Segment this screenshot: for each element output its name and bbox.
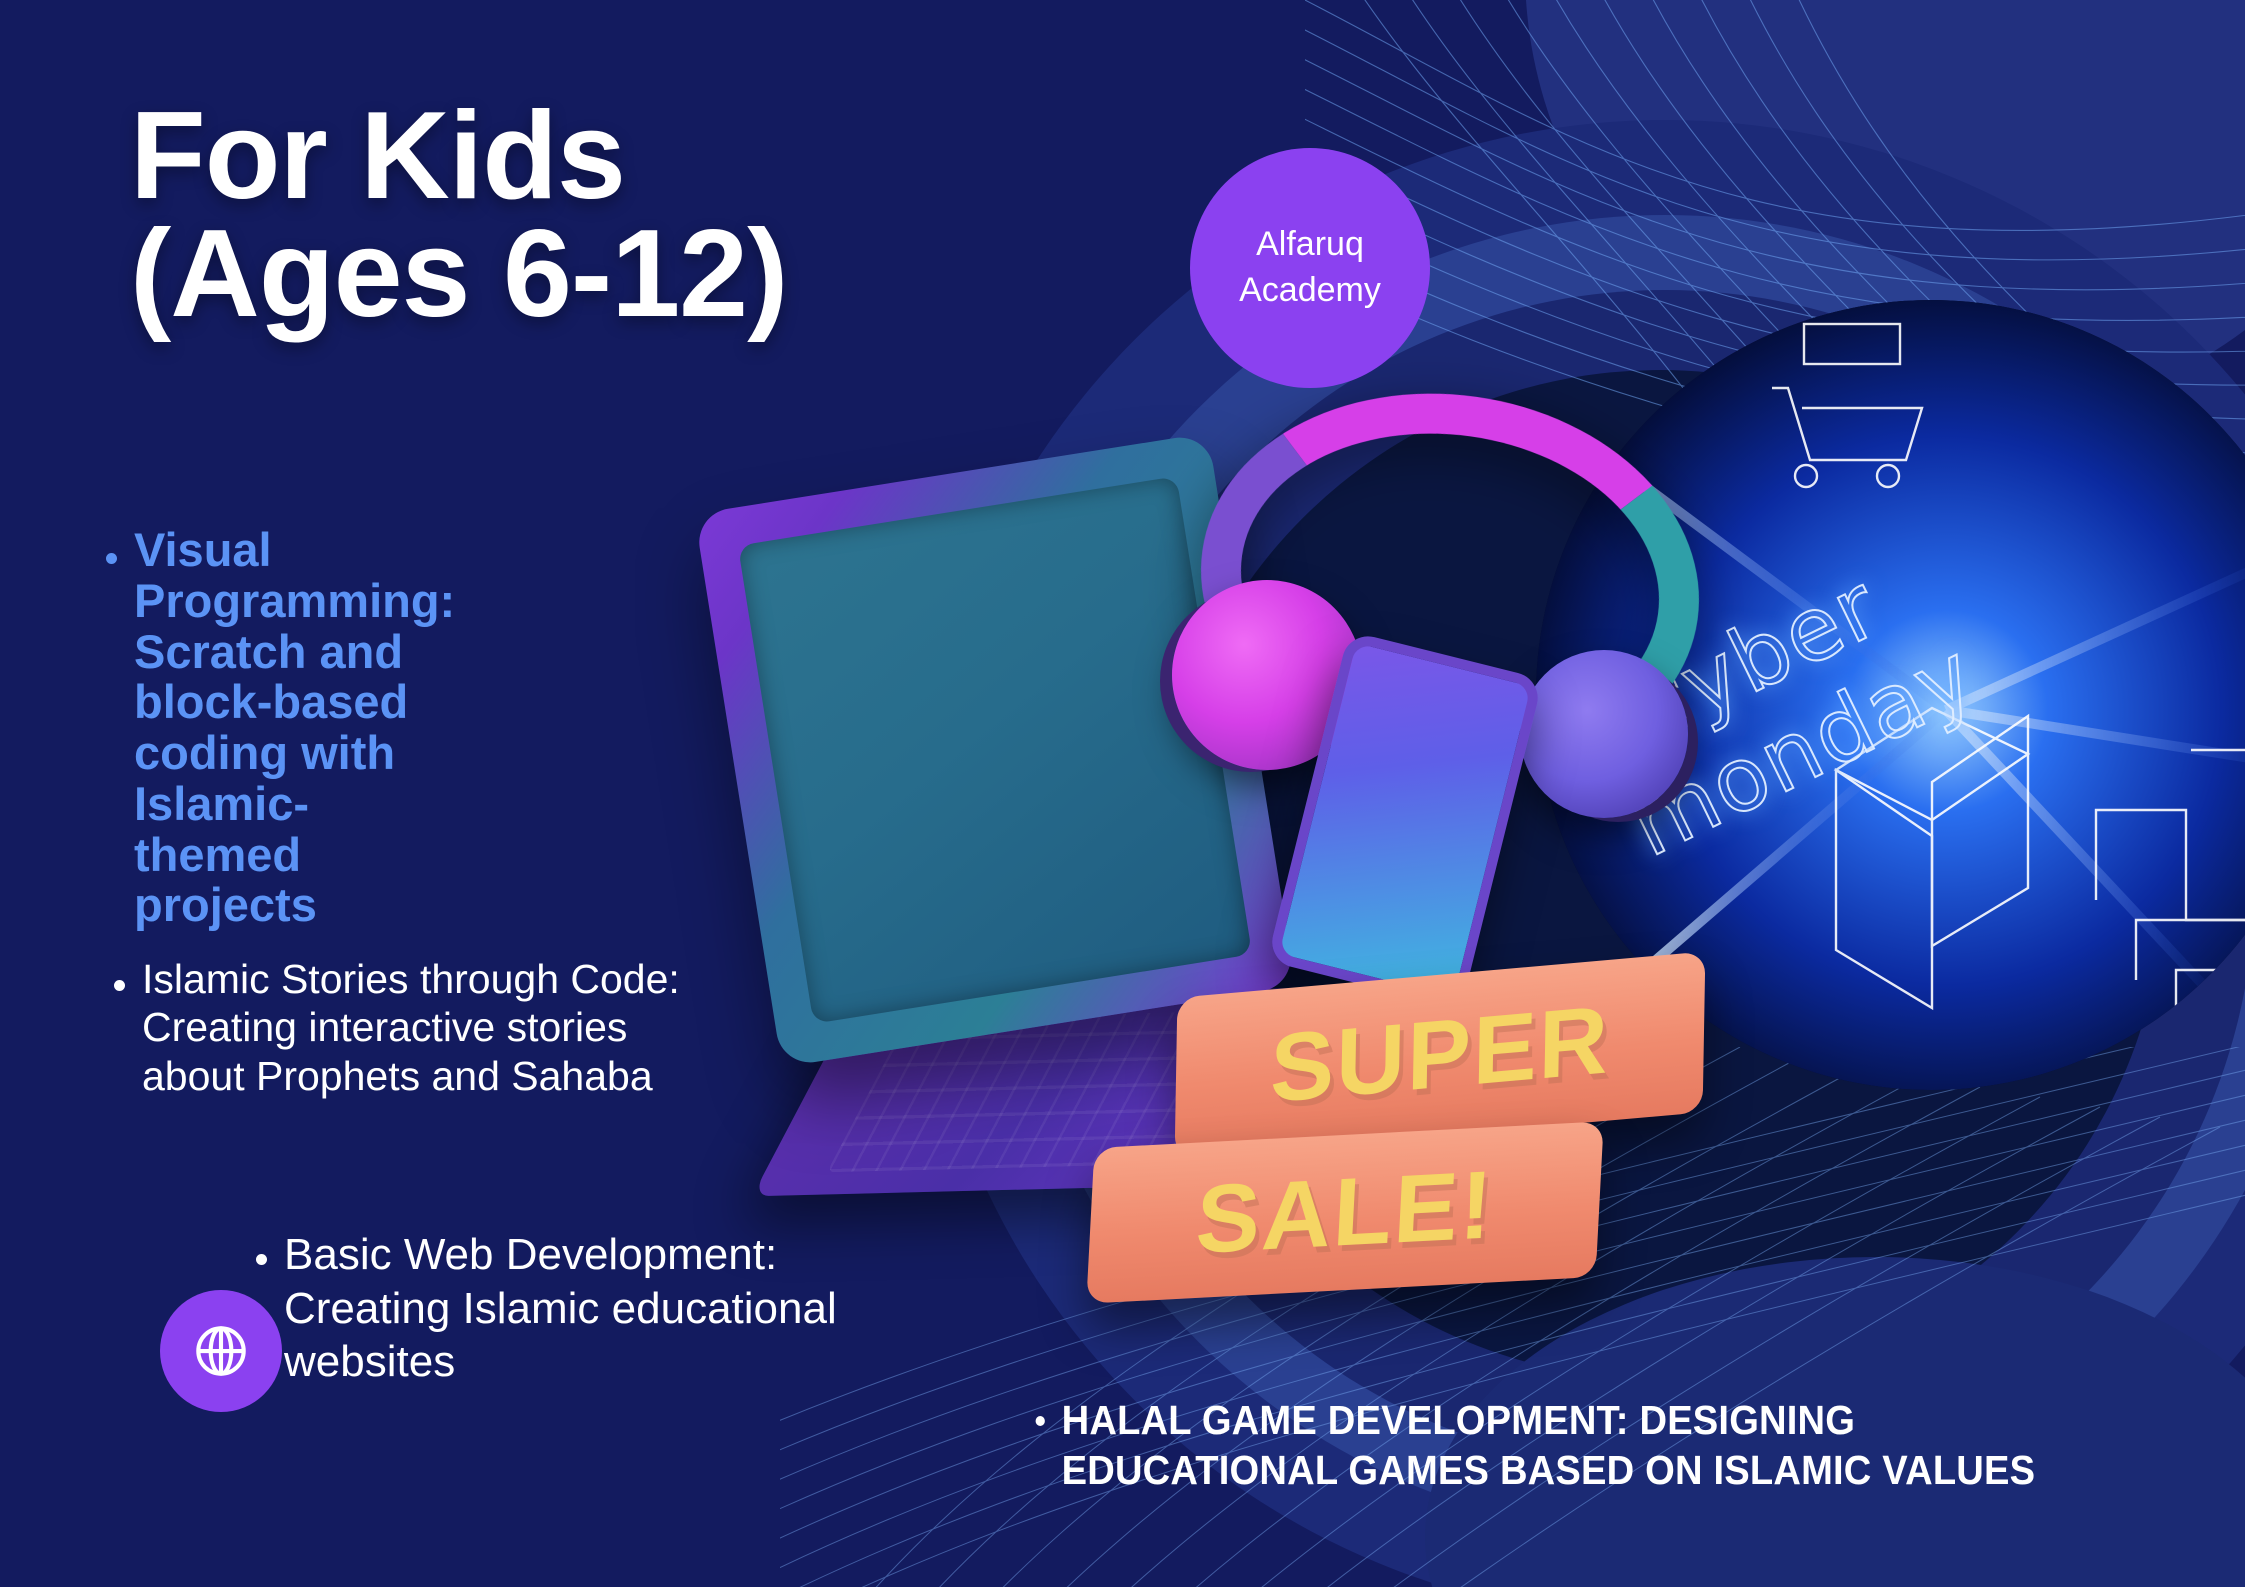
super-sale-banner-bottom: SALE! <box>1086 1121 1603 1303</box>
page-title-line-1: For Kids <box>130 98 850 216</box>
bullet-item-halal-game-development: HALAL GAME DEVELOPMENT: DESIGNING EDUCAT… <box>1030 1395 2127 1495</box>
laptop-screen <box>738 476 1252 1023</box>
bullet-list-visual-programming: Visual Programming: Scratch and block-ba… <box>100 525 470 931</box>
headphones-right-cup <box>1520 650 1688 818</box>
bullet-item-islamic-stories: Islamic Stories through Code: Creating i… <box>108 955 708 1100</box>
bullet-list-halal-game-development: HALAL GAME DEVELOPMENT: DESIGNING EDUCAT… <box>1030 1395 2127 1495</box>
page-title-line-2: (Ages 6-12) <box>130 216 850 334</box>
academy-badge-line-2: Academy <box>1239 268 1381 314</box>
academy-badge: Alfaruq Academy <box>1190 148 1430 388</box>
academy-badge-line-1: Alfaruq <box>1239 222 1381 268</box>
bullet-item-visual-programming: Visual Programming: Scratch and block-ba… <box>100 525 470 931</box>
poster-canvas: cyber monday SUPER SALE! For Kids (Ages … <box>0 0 2245 1587</box>
super-sale-banner-top-text: SUPER <box>1269 985 1610 1125</box>
bullet-list-web-development: Basic Web Development: Creating Islamic … <box>250 1228 900 1389</box>
page-title: For Kids (Ages 6-12) <box>130 98 850 334</box>
bullet-list-islamic-stories: Islamic Stories through Code: Creating i… <box>108 955 708 1100</box>
bullet-item-web-development: Basic Web Development: Creating Islamic … <box>250 1228 900 1389</box>
globe-icon <box>188 1318 254 1384</box>
super-sale-banner-bottom-text: SALE! <box>1193 1149 1496 1275</box>
